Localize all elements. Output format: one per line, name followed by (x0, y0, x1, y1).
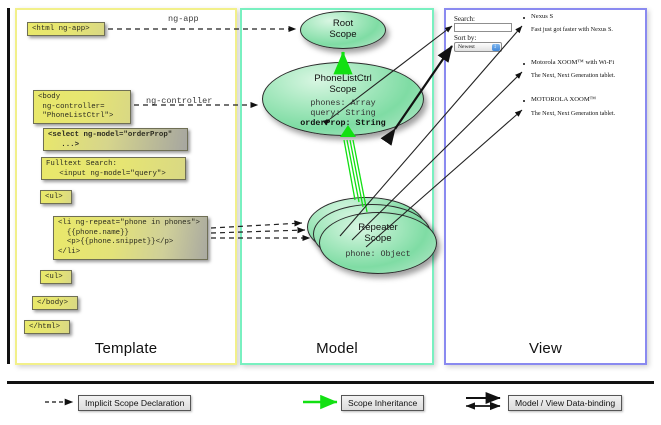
legend-implicit-scope-declaration: Implicit Scope Declaration (78, 395, 191, 411)
repeater-scope-title: RepeaterScope (320, 213, 436, 244)
select-tag-box: <select ng-model="orderProp" ...> (43, 128, 188, 151)
ng-controller-label: ng-controller (146, 96, 212, 106)
list-item: Nexus S (531, 13, 553, 20)
phonelistctrl-scope: PhoneListCtrlScope phones: Array query: … (262, 62, 424, 136)
phone-snippet: The Next, Next Generation tablet. (531, 110, 615, 117)
template-panel-title: Template (17, 340, 235, 357)
template-panel: Template (15, 8, 237, 365)
ul-close-box: <ul> (40, 270, 72, 284)
sortby-select-value: Newest (458, 44, 475, 50)
list-item: Motorola XOOM™ with Wi-Fi (531, 59, 614, 66)
repeater-scope: RepeaterScope phone: Object (319, 212, 437, 274)
phonelistctrl-scope-title: PhoneListCtrlScope (263, 63, 423, 95)
ng-app-label: ng-app (168, 14, 199, 24)
li-ng-repeat-box: <li ng-repeat="phone in phones"> {{phone… (53, 216, 208, 260)
body-close-box: </body> (32, 296, 78, 310)
repeater-scope-props: phone: Object (320, 244, 436, 259)
root-scope: RootScope (300, 11, 386, 49)
search-label: Search: (454, 15, 475, 23)
html-close-box: </html> (24, 320, 70, 334)
phone-name: Motorola XOOM™ with Wi-Fi (531, 59, 614, 66)
sortby-select[interactable]: Newest (454, 42, 502, 52)
phone-snippet: The Next, Next Generation tablet. (531, 72, 615, 79)
phone-snippet: Fast just got faster with Nexus S. (531, 26, 613, 33)
legend-scope-inheritance: Scope Inheritance (341, 395, 424, 411)
chevron-updown-icon (492, 44, 500, 51)
html-tag-box: <html ng-app> (27, 22, 105, 36)
phonelistctrl-scope-props: phones: Array query: String orderProp: S… (263, 95, 423, 129)
ul-open-box: <ul> (40, 190, 72, 204)
sortby-label: Sort by: (454, 34, 476, 42)
phone-name: MOTOROLA XOOM™ (531, 96, 596, 103)
root-scope-title: RootScope (301, 12, 385, 40)
body-tag-box: <body ng-controller= "PhoneListCtrl"> (33, 90, 131, 124)
phone-name: Nexus S (531, 13, 553, 20)
legend-divider (7, 381, 654, 384)
left-rule (7, 8, 10, 364)
legend-model-view-data-binding: Model / View Data-binding (508, 395, 622, 411)
legend: Implicit Scope Declaration Scope Inherit… (0, 388, 661, 418)
fulltext-search-box: Fulltext Search: <input ng-model="query"… (41, 157, 186, 180)
list-item: MOTOROLA XOOM™ (531, 96, 596, 103)
search-input[interactable] (454, 23, 512, 32)
view-panel-title: View (446, 340, 645, 357)
model-panel-title: Model (242, 340, 432, 357)
diagram-root: Template <html ng-app> <body ng-controll… (0, 0, 661, 425)
